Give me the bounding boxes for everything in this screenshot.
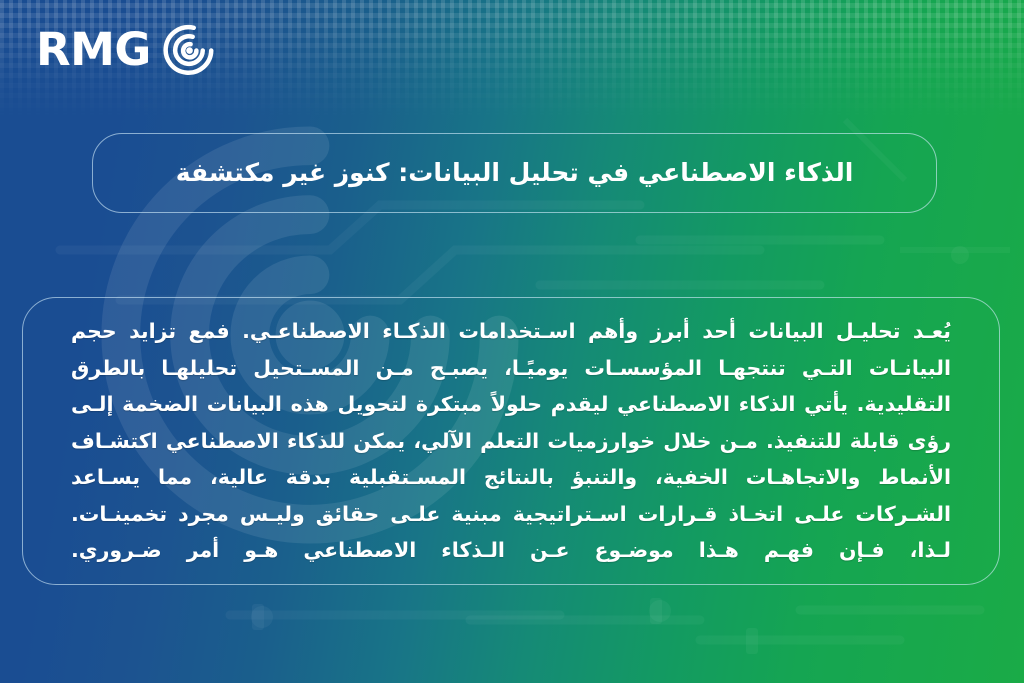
brand-wordmark: RMG <box>36 27 151 72</box>
page-title: الذكاء الاصطناعي في تحليل البيانات: كنوز… <box>176 156 854 190</box>
spiral-swirl-icon <box>163 23 216 76</box>
banner-canvas: RMG الذكاء الاصطناعي في تحليل البيانات: … <box>0 0 1024 683</box>
title-card: الذكاء الاصطناعي في تحليل البيانات: كنوز… <box>92 133 937 213</box>
body-card: يُعـد تحليـل البيانات أحد أبرز وأهم اسـت… <box>22 297 1000 585</box>
body-paragraph: يُعـد تحليـل البيانات أحد أبرز وأهم اسـت… <box>71 313 951 568</box>
brand-logo[interactable]: RMG <box>36 23 216 76</box>
